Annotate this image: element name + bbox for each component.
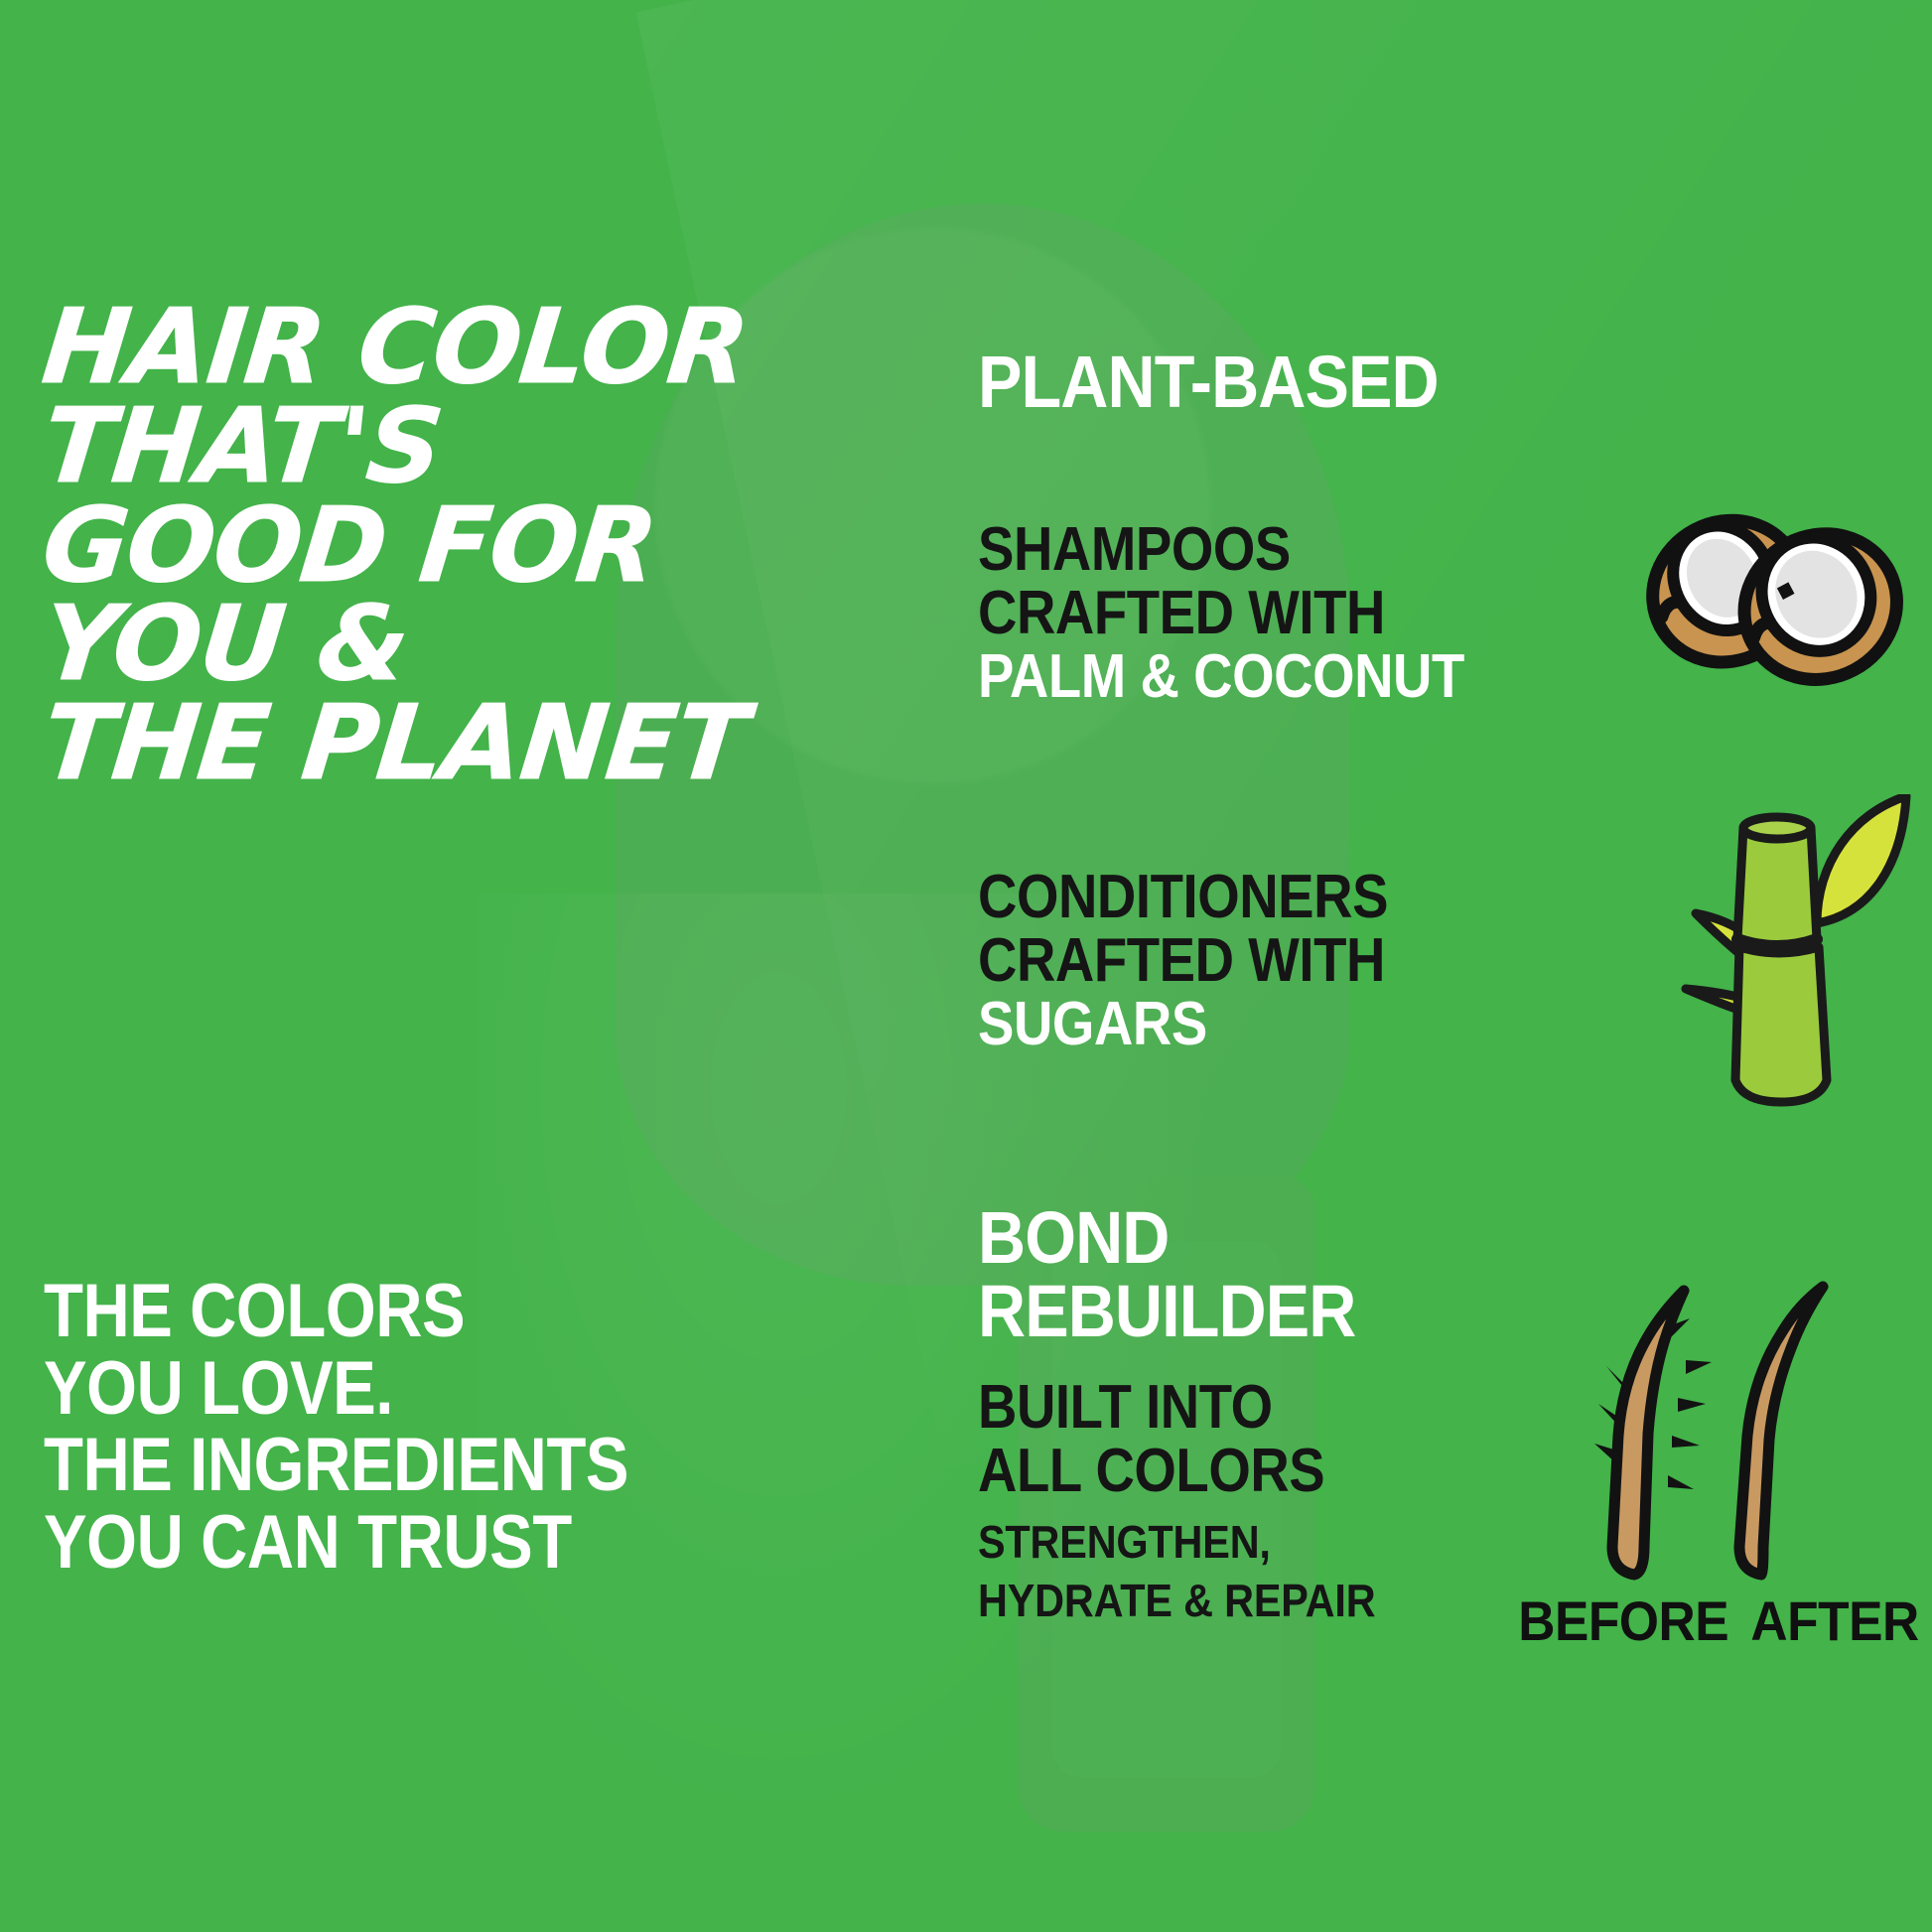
shampoos-highlight: PALM & COCONUT	[978, 645, 1464, 709]
shampoos-line-2: CRAFTED WITH	[978, 582, 1464, 645]
bond-rebuilder-desc-line-1: BUILT INTO	[978, 1376, 1367, 1440]
damaged-hair-strand	[1594, 1291, 1712, 1575]
headline-line-1: HAIR COLOR	[39, 298, 803, 397]
headline-line-5: THE PLANET	[39, 694, 803, 793]
shampoos-line-1: SHAMPOOS	[978, 518, 1464, 582]
brand-claim-block: THE COLORS YOU LOVE. THE INGREDIENTS YOU…	[44, 1273, 628, 1581]
headline: HAIR COLOR THAT'S GOOD FOR YOU & THE PLA…	[44, 298, 798, 793]
plant-based-title: PLANT-BASED	[978, 345, 1439, 419]
headline-line-3: GOOD FOR	[39, 496, 803, 596]
hair-strand-comparison-icon	[1517, 1281, 1914, 1588]
headline-line-4: YOU &	[39, 595, 803, 694]
conditioners-highlight: SUGARS	[978, 993, 1388, 1056]
feature-shampoos: SHAMPOOS CRAFTED WITH PALM & COCONUT	[978, 518, 1531, 709]
feature-plant-based: PLANT-BASED	[978, 345, 1489, 419]
before-label: BEFORE	[1518, 1588, 1728, 1653]
bond-rebuilder-title: BOND REBUILDER	[978, 1201, 1375, 1348]
conditioners-description: CONDITIONERS CRAFTED WITH	[978, 866, 1388, 993]
bond-rebuilder-benefit-line-2: HYDRATE & REPAIR	[978, 1572, 1375, 1630]
bond-rebuilder-desc-line-2: ALL COLORS	[978, 1440, 1367, 1503]
bond-rebuilder-description: BUILT INTO ALL COLORS	[978, 1376, 1367, 1503]
healthy-hair-strand	[1739, 1287, 1823, 1575]
feature-bond-rebuilder: BOND REBUILDER BUILT INTO ALL COLORS STR…	[978, 1201, 1420, 1629]
bond-rebuilder-title-line-1: BOND	[978, 1201, 1375, 1275]
claim-line-1: THE COLORS	[44, 1273, 628, 1350]
claim-line-2: YOU LOVE.	[44, 1350, 628, 1428]
claim-line-4: YOU CAN TRUST	[44, 1504, 628, 1582]
bond-rebuilder-benefit-line-1: STRENGTHEN,	[978, 1513, 1375, 1572]
headline-line-2: THAT'S	[39, 397, 803, 496]
bond-rebuilder-title-line-2: REBUILDER	[978, 1275, 1375, 1348]
feature-conditioners: CONDITIONERS CRAFTED WITH SUGARS	[978, 866, 1444, 1056]
conditioners-line-2: CRAFTED WITH	[978, 929, 1388, 993]
shampoos-description: SHAMPOOS CRAFTED WITH	[978, 518, 1464, 645]
bond-rebuilder-benefits: STRENGTHEN, HYDRATE & REPAIR	[978, 1513, 1375, 1630]
conditioners-line-1: CONDITIONERS	[978, 866, 1388, 929]
marketing-graphic: HAIR COLOR THAT'S GOOD FOR YOU & THE PLA…	[0, 0, 1932, 1932]
before-after-labels: BEFORE AFTER	[1509, 1588, 1926, 1653]
sugarcane-icon	[1668, 794, 1932, 1112]
claim-line-3: THE INGREDIENTS	[44, 1427, 628, 1504]
coconut-icon	[1626, 455, 1914, 743]
after-label: AFTER	[1750, 1588, 1918, 1653]
